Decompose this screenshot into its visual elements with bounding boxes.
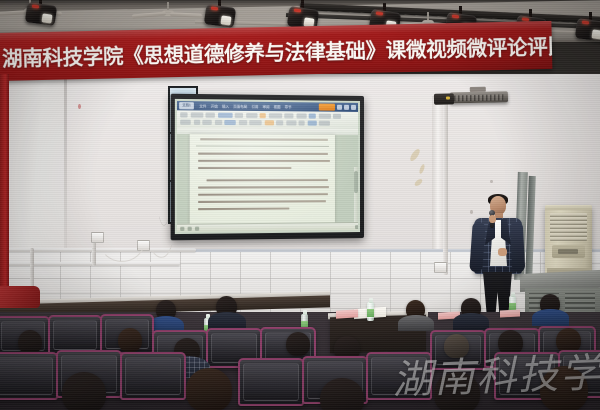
wall-left-panel <box>0 74 66 254</box>
audience-shoulders <box>532 309 569 326</box>
doc-text-line <box>198 193 328 196</box>
wall-pipe-vertical-2 <box>92 240 96 266</box>
close-icon[interactable] <box>351 105 356 110</box>
presenter <box>470 196 526 312</box>
stage-spotlight <box>576 18 600 44</box>
audience-head-foreground <box>320 378 364 410</box>
wall-speck <box>490 180 493 183</box>
audience-head <box>118 328 142 352</box>
menu-item[interactable]: 页面布局 <box>233 104 247 109</box>
status-indicator <box>195 226 199 230</box>
projection-screen: 文档1 文件 开始 插入 页面布局 引用 审阅 视图 章节 <box>171 94 364 241</box>
doc-text-line <box>198 186 329 189</box>
stage-spotlight <box>26 2 56 28</box>
air-conditioner <box>545 205 592 277</box>
score-sheet-red-3 <box>500 309 520 317</box>
presenter-hand-holding-mic <box>489 215 496 223</box>
audience-shoulders <box>453 313 489 330</box>
menu-item[interactable]: 章节 <box>285 104 292 109</box>
doc-text-line <box>198 167 291 169</box>
document-tab[interactable]: 文档1 <box>179 102 194 109</box>
menu-item[interactable]: 开始 <box>211 103 218 108</box>
status-indicator <box>355 225 358 229</box>
wall-rail-2 <box>0 262 180 266</box>
scrollbar-thumb[interactable] <box>354 171 358 193</box>
ac-grille <box>550 213 587 241</box>
projector-lens <box>446 96 450 99</box>
titlebar-right-controls[interactable] <box>319 104 356 111</box>
minimize-icon[interactable] <box>337 105 342 110</box>
doc-text-line <box>198 200 326 203</box>
auditorium-seat[interactable] <box>366 352 432 400</box>
doc-text-line <box>200 138 328 141</box>
menu-item[interactable]: 文件 <box>199 103 206 108</box>
status-indicator <box>188 226 192 230</box>
projector-lens-housing <box>434 93 454 104</box>
audience-head-foreground <box>540 366 588 410</box>
wall-pipe-vertical-3 <box>443 100 448 275</box>
presenter-arm-right <box>510 222 526 273</box>
menu-item[interactable]: 插入 <box>222 104 229 109</box>
audience-head-foreground <box>62 372 106 410</box>
auditorium-seat[interactable] <box>48 315 102 355</box>
wall-corner <box>64 74 67 256</box>
water-bottle-judges <box>367 302 374 321</box>
lower-curtain-fold <box>0 286 40 308</box>
auditorium-seat[interactable] <box>120 352 186 400</box>
score-sheet-red <box>336 309 358 319</box>
banner-title: 湖南科技学院《思想道德修养与法律基础》课微视频微评论评比竞赛 <box>2 30 551 72</box>
document-canvas <box>177 134 358 225</box>
maximize-icon[interactable] <box>344 105 349 110</box>
menu-bar[interactable]: 文件 开始 插入 页面布局 引用 审阅 视图 章节 <box>199 103 291 109</box>
ac-top-cap <box>545 205 592 210</box>
menu-item[interactable]: 引用 <box>251 104 258 109</box>
projection-surface: 文档1 文件 开始 插入 页面布局 引用 审阅 视图 章节 <box>175 99 360 234</box>
menu-item[interactable]: 审阅 <box>263 104 270 109</box>
ceiling-projector <box>434 91 508 108</box>
audience-head <box>444 334 469 358</box>
projector-vent <box>454 94 504 101</box>
status-indicator <box>180 226 184 230</box>
audience-shoulders <box>398 315 434 331</box>
presenter-trousers <box>483 272 512 312</box>
audience-head <box>18 330 42 354</box>
presenter-hand-right <box>498 248 507 256</box>
lecture-hall-photo: 文档1 文件 开始 插入 页面布局 引用 审阅 视图 章节 <box>0 0 600 410</box>
document-page <box>190 134 335 225</box>
menu-item[interactable]: 视图 <box>274 104 281 109</box>
audience-head <box>286 332 310 356</box>
projected-word-processor: 文档1 文件 开始 插入 页面布局 引用 审阅 视图 章节 <box>177 101 358 232</box>
auditorium-seat[interactable] <box>0 352 58 400</box>
doc-divider <box>196 145 329 146</box>
audience-head-foreground <box>434 372 480 410</box>
membership-button[interactable] <box>319 104 335 111</box>
stage-spotlight <box>205 4 235 30</box>
doc-text-line <box>198 153 328 156</box>
stage-curtain <box>0 74 9 304</box>
app-status-bar <box>177 222 358 232</box>
doc-text-line <box>198 208 289 211</box>
wall-speck <box>78 104 81 109</box>
doc-text-line <box>207 179 328 182</box>
wall-outlet-3 <box>434 262 447 273</box>
auditorium-seat[interactable] <box>238 358 304 406</box>
ac-brand-badge <box>558 249 578 254</box>
doc-text-line <box>198 160 330 163</box>
audience-head-foreground <box>186 368 232 410</box>
